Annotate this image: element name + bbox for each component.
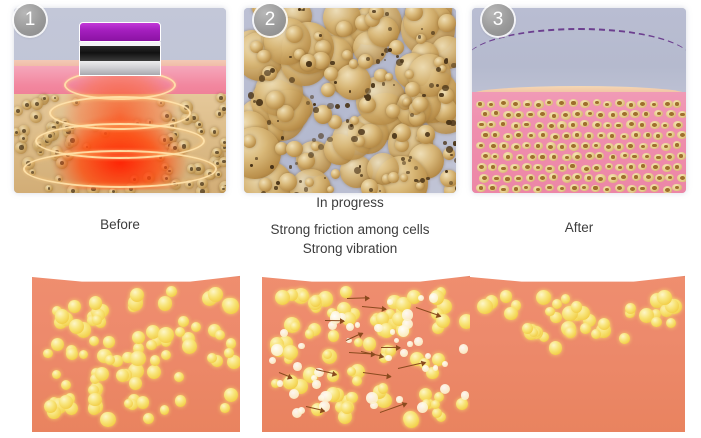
- cell-body-small: [286, 26, 303, 43]
- fat-cell-after: [672, 184, 681, 191]
- fat-cell-after: [677, 152, 686, 160]
- cell-nucleus: [450, 154, 452, 156]
- cell-nucleus: [455, 185, 456, 192]
- fat-cell-after: [653, 132, 663, 140]
- fat-cell-nucleus: [219, 96, 223, 100]
- panel-before-treatment: [14, 8, 226, 193]
- fat-cell-after: [538, 174, 548, 182]
- fat-cell-after: [592, 164, 602, 172]
- fat-cell-nucleus: [222, 107, 226, 111]
- vibration-arrow: [381, 347, 400, 348]
- cell-body-small: [385, 73, 393, 81]
- fat-cell-nucleus: [112, 190, 115, 193]
- fat-cell-after: [615, 184, 625, 192]
- cell-fragment: [271, 344, 283, 356]
- fat-cell-after: [503, 175, 512, 183]
- fat-cell: [328, 330, 340, 342]
- fat-cell: [100, 412, 116, 428]
- fat-cell: [220, 403, 230, 413]
- cell-nucleus: [335, 104, 340, 109]
- cell-nucleus: [422, 94, 426, 98]
- cell-nucleus: [366, 57, 371, 62]
- fat-cell-nucleus: [16, 109, 20, 113]
- cell-nucleus: [248, 92, 254, 98]
- fat-cell-after: [511, 100, 521, 108]
- cell-nucleus: [436, 84, 439, 87]
- fat-cell: [340, 286, 351, 297]
- fat-cell-after: [562, 174, 572, 182]
- cell-nucleus: [289, 165, 293, 169]
- fat-cell-after: [498, 164, 508, 172]
- fat-cell-after: [626, 120, 636, 128]
- fat-cell: [103, 336, 114, 347]
- fat-cell-after: [585, 152, 595, 160]
- fat-cell: [310, 295, 321, 306]
- cell-nucleus: [439, 93, 443, 97]
- fat-cell-after: [620, 133, 629, 140]
- fat-cell-after: [631, 131, 641, 139]
- fat-cell: [116, 369, 129, 382]
- fat-cell-after: [666, 131, 675, 139]
- cell-fragment: [312, 380, 320, 388]
- fat-cell: [124, 399, 133, 408]
- cell-nucleus: [454, 143, 456, 146]
- fat-cell-after: [643, 173, 653, 181]
- cell-nucleus: [327, 137, 332, 142]
- cell-body-small: [440, 170, 456, 187]
- cell-nucleus: [442, 85, 448, 91]
- cell-nucleus: [450, 120, 455, 125]
- fat-cell-after: [663, 186, 673, 193]
- fat-cell-after: [489, 142, 499, 150]
- cell-fragment: [414, 337, 423, 346]
- caption-after: After: [472, 218, 686, 237]
- fat-cell-after: [570, 184, 579, 192]
- fat-cell-nucleus: [19, 145, 23, 149]
- fat-cell-after: [632, 173, 641, 180]
- fat-cell-after: [503, 111, 513, 119]
- cell-nucleus: [365, 88, 371, 94]
- fat-cell-after: [481, 131, 490, 138]
- cell-nucleus: [334, 81, 337, 84]
- fat-cell-after: [580, 184, 589, 191]
- fat-cell-after: [488, 163, 497, 170]
- fat-cell: [182, 339, 197, 354]
- fat-cell-after: [572, 152, 582, 160]
- fat-cell: [166, 286, 177, 297]
- cell-fragment: [402, 309, 414, 321]
- cell-fragment: [459, 344, 469, 354]
- cell-fragment: [390, 329, 396, 335]
- fat-cell: [619, 333, 630, 344]
- cell-nucleus: [330, 61, 334, 65]
- fat-cell: [150, 355, 160, 365]
- cell-nucleus: [299, 180, 302, 183]
- fat-cell-after: [568, 121, 578, 129]
- fat-cell: [208, 287, 223, 302]
- fat-cell-after: [557, 121, 567, 129]
- fat-cell-after: [487, 121, 496, 128]
- fat-cell-after: [677, 131, 686, 139]
- fat-cell-after: [661, 143, 671, 151]
- cell-body-small: [259, 178, 272, 191]
- fat-cell: [666, 318, 676, 328]
- caption-in-progress: In progress: [229, 193, 471, 212]
- caption-in-progress-group: In progress Strong friction among cells …: [229, 193, 471, 258]
- cell-nucleus: [385, 12, 389, 16]
- fat-cell-after: [677, 174, 686, 182]
- cell-nucleus: [306, 101, 310, 105]
- fat-cell-after: [533, 186, 542, 193]
- fat-cell: [59, 395, 73, 409]
- fat-cell-after: [673, 100, 682, 107]
- fat-cell-after: [477, 163, 487, 171]
- fat-cell: [158, 327, 174, 343]
- fat-cell-after: [608, 111, 618, 119]
- fat-cell-after: [638, 163, 647, 170]
- device-black-band: [79, 46, 161, 61]
- fat-cell-after: [546, 142, 556, 150]
- cell-nucleus: [348, 124, 354, 130]
- cell-fragment: [417, 402, 428, 413]
- fat-cell-after: [477, 121, 487, 129]
- fat-cell: [55, 309, 70, 324]
- cell-nucleus: [372, 10, 376, 14]
- cell-nucleus: [324, 177, 326, 179]
- fat-cell: [323, 350, 332, 359]
- cell-body-small: [358, 54, 373, 69]
- fat-cell-after: [534, 100, 544, 108]
- fat-cell: [146, 340, 157, 351]
- fat-cell-after: [638, 121, 647, 128]
- fat-cell-after: [572, 131, 582, 139]
- fat-cell: [130, 351, 145, 366]
- fat-cell-after: [491, 110, 500, 117]
- step-badge-1: 1: [14, 4, 46, 36]
- fat-cell-after: [615, 99, 625, 107]
- cell-nucleus: [358, 129, 364, 135]
- fat-cell-after: [538, 131, 548, 139]
- fat-cell: [61, 380, 71, 390]
- cell-nucleus: [402, 161, 406, 165]
- fat-cell-after: [673, 121, 683, 129]
- cell-nucleus: [451, 63, 456, 69]
- fat-cell-after: [614, 143, 624, 151]
- fat-cell-after: [538, 153, 547, 161]
- bottom-panel-reduced: [470, 272, 685, 432]
- cell-nucleus: [259, 75, 265, 81]
- cell-nucleus: [392, 133, 397, 138]
- cell-fragment: [385, 355, 392, 362]
- cell-body-small: [388, 172, 398, 182]
- fat-cell: [571, 301, 583, 313]
- fat-cell-after: [545, 165, 555, 173]
- fat-cell-after: [561, 111, 571, 119]
- fat-cell-after: [476, 101, 485, 108]
- fat-cell: [51, 338, 64, 351]
- bottom-panel-dense: [32, 272, 240, 432]
- fat-cell: [178, 316, 189, 327]
- fat-cell-after: [499, 142, 509, 150]
- cell-fragment: [269, 357, 276, 364]
- fat-cell: [561, 294, 570, 303]
- cell-fragment: [398, 325, 409, 336]
- fat-cell-after: [569, 99, 578, 106]
- cell-nucleus: [255, 157, 258, 160]
- cell-body-small: [331, 169, 341, 179]
- cell-nucleus: [376, 59, 381, 64]
- cell-fragment: [394, 338, 399, 343]
- fat-cell: [305, 329, 315, 339]
- fat-cell: [92, 315, 102, 325]
- panel-cells-in-progress: [244, 8, 456, 193]
- cell-nucleus: [401, 157, 405, 161]
- cell-nucleus: [250, 164, 252, 166]
- fat-cell-after: [626, 101, 636, 109]
- fat-cell-nucleus: [200, 189, 205, 193]
- fat-cell: [378, 383, 389, 394]
- fat-cell-after: [597, 132, 606, 139]
- fat-cell: [536, 290, 551, 305]
- fat-cell-after: [678, 111, 686, 118]
- cell-fragment: [440, 384, 450, 394]
- cell-body-small: [324, 67, 338, 81]
- fat-cell-after: [673, 163, 682, 171]
- cell-nucleus: [345, 103, 350, 108]
- fat-cell: [223, 298, 238, 313]
- fat-cell-after: [572, 110, 582, 118]
- fat-cell: [224, 388, 238, 402]
- cell-body-small: [405, 82, 420, 97]
- fat-cell: [89, 296, 103, 310]
- fat-cell-after: [558, 164, 567, 171]
- fat-cell-after: [604, 143, 614, 151]
- fat-cell: [158, 296, 173, 311]
- fat-cell-after: [550, 133, 560, 141]
- fat-cell: [89, 336, 99, 346]
- cell-fragment: [289, 389, 299, 399]
- cell-fragment: [442, 361, 448, 367]
- fat-cell: [500, 290, 512, 302]
- fat-cell-after: [608, 174, 618, 182]
- cell-fragment: [366, 392, 378, 404]
- fat-cell-after: [603, 101, 612, 109]
- fat-cell: [275, 290, 290, 305]
- cell-fragment: [400, 349, 408, 357]
- fat-cell-nucleus: [223, 141, 226, 144]
- fat-cell: [132, 331, 145, 344]
- step-badge-2: 2: [254, 4, 286, 36]
- device-chrome-base: [79, 61, 161, 76]
- cell-body-small: [279, 173, 297, 191]
- caption-strong-vibration: Strong vibration: [229, 239, 471, 258]
- fat-cell-after: [534, 142, 543, 149]
- panel-after-treatment: [472, 8, 686, 193]
- fat-cell-after: [522, 184, 531, 191]
- cell-nucleus: [425, 132, 430, 137]
- caption-after-text: After: [472, 218, 686, 237]
- fat-cell: [657, 290, 672, 305]
- caption-before-text: Before: [14, 215, 226, 234]
- fat-cell-after: [642, 111, 651, 118]
- cell-body-small: [412, 97, 427, 112]
- fat-cell-after: [673, 141, 682, 148]
- fat-cell: [432, 408, 442, 418]
- fat-cell-after: [503, 133, 513, 141]
- fat-cell-after: [591, 185, 600, 192]
- cell-nucleus: [319, 34, 321, 36]
- cell-nucleus: [312, 138, 316, 142]
- cell-body-small: [349, 59, 359, 69]
- fat-cell-after: [499, 99, 509, 107]
- fat-cell: [522, 323, 533, 334]
- cell-fragment: [298, 407, 305, 414]
- fat-cell-nucleus: [15, 131, 18, 134]
- cell-body-small: [266, 91, 284, 109]
- fat-cell: [431, 400, 440, 409]
- cell-nucleus: [382, 82, 385, 85]
- diagram-canvas: 1 2 3 Before In progress Strong friction…: [0, 0, 701, 438]
- fat-cell: [160, 405, 170, 415]
- cell-nucleus: [444, 59, 448, 63]
- cell-nucleus: [318, 144, 324, 150]
- fat-cell-after: [503, 152, 513, 160]
- fat-cell-after: [511, 122, 520, 130]
- fat-cell: [224, 348, 234, 358]
- cell-nucleus: [267, 120, 272, 125]
- fat-cell: [137, 396, 149, 408]
- fat-cell-after: [557, 143, 566, 151]
- fat-cell-after: [607, 132, 616, 140]
- cell-fragment: [293, 362, 302, 371]
- fat-cell-after: [568, 163, 577, 170]
- fat-cell-after: [626, 163, 635, 171]
- fat-cell-after: [549, 112, 559, 120]
- cell-fragment: [418, 295, 424, 301]
- fat-cell-after: [533, 164, 542, 172]
- cell-nucleus: [410, 113, 414, 117]
- fat-cell-after: [596, 111, 605, 119]
- cell-body: [438, 14, 456, 32]
- energy-ring: [23, 150, 217, 188]
- cell-nucleus: [446, 146, 453, 153]
- cell-fragment: [429, 293, 439, 303]
- fat-cell: [52, 370, 61, 379]
- applicator-device: [79, 22, 161, 76]
- fat-cell: [129, 377, 141, 389]
- cell-fragment: [407, 341, 412, 346]
- fat-cell-after: [479, 174, 489, 182]
- cell-nucleus: [306, 61, 311, 66]
- fat-cell-after: [476, 184, 486, 192]
- fat-cell-after: [499, 185, 509, 193]
- cell-body-small: [244, 135, 256, 147]
- cell-fragment: [425, 353, 431, 359]
- fat-cell: [95, 367, 109, 381]
- step-badge-3: 3: [482, 4, 514, 36]
- fat-cell-after: [562, 154, 571, 162]
- fat-cell-after: [592, 142, 601, 149]
- cell-nucleus: [274, 186, 277, 189]
- cell-nucleus: [426, 177, 429, 180]
- cell-fragment: [320, 391, 331, 402]
- cell-fragment: [355, 322, 361, 328]
- cell-nucleus: [449, 181, 453, 185]
- fat-cell-after: [584, 174, 593, 181]
- caption-before: Before: [14, 215, 226, 234]
- cell-nucleus: [301, 9, 304, 12]
- cell-nucleus: [270, 165, 274, 169]
- cell-nucleus: [346, 119, 350, 123]
- cell-nucleus: [313, 107, 318, 112]
- fat-cell-nucleus: [217, 173, 220, 176]
- bottom-panel-breaking: [262, 272, 470, 432]
- cell-nucleus: [371, 83, 376, 88]
- fat-cell: [68, 300, 81, 313]
- fat-cell-after: [557, 185, 566, 192]
- caption-strong-friction: Strong friction among cells: [229, 220, 471, 239]
- fat-cell: [580, 323, 590, 333]
- fat-cell: [651, 317, 661, 327]
- fat-cell-after: [655, 174, 665, 182]
- device-purple-cap: [79, 22, 161, 42]
- fat-cell-after: [643, 132, 652, 139]
- fat-cell: [161, 350, 171, 360]
- fat-cell-after: [650, 184, 660, 192]
- fat-cell-after: [569, 142, 579, 150]
- fat-cell-after: [662, 164, 672, 172]
- fat-cell-after: [527, 132, 536, 139]
- cell-fragment: [387, 299, 393, 305]
- fat-cell-after: [595, 152, 604, 159]
- cell-nucleus: [256, 99, 262, 105]
- fat-cell-after: [512, 185, 521, 192]
- fat-cell-after: [562, 132, 571, 140]
- cell-nucleus: [409, 156, 412, 159]
- cell-fragment: [374, 324, 382, 332]
- fat-cell-after: [514, 111, 524, 119]
- cell-body-small: [336, 21, 352, 37]
- fat-cell-after: [595, 174, 605, 182]
- fat-cell: [88, 393, 101, 406]
- cell-nucleus: [396, 59, 403, 66]
- fat-cell-after: [665, 153, 675, 161]
- cell-nucleus: [351, 136, 358, 143]
- cell-fragment: [298, 343, 304, 349]
- fat-cell-after: [581, 165, 591, 173]
- fat-cell-nucleus: [218, 112, 221, 115]
- fat-cell: [175, 395, 187, 407]
- fat-cell: [404, 413, 419, 428]
- fat-cell-after: [609, 154, 618, 161]
- fat-cell-after: [663, 100, 673, 108]
- cell-fragment: [280, 329, 288, 337]
